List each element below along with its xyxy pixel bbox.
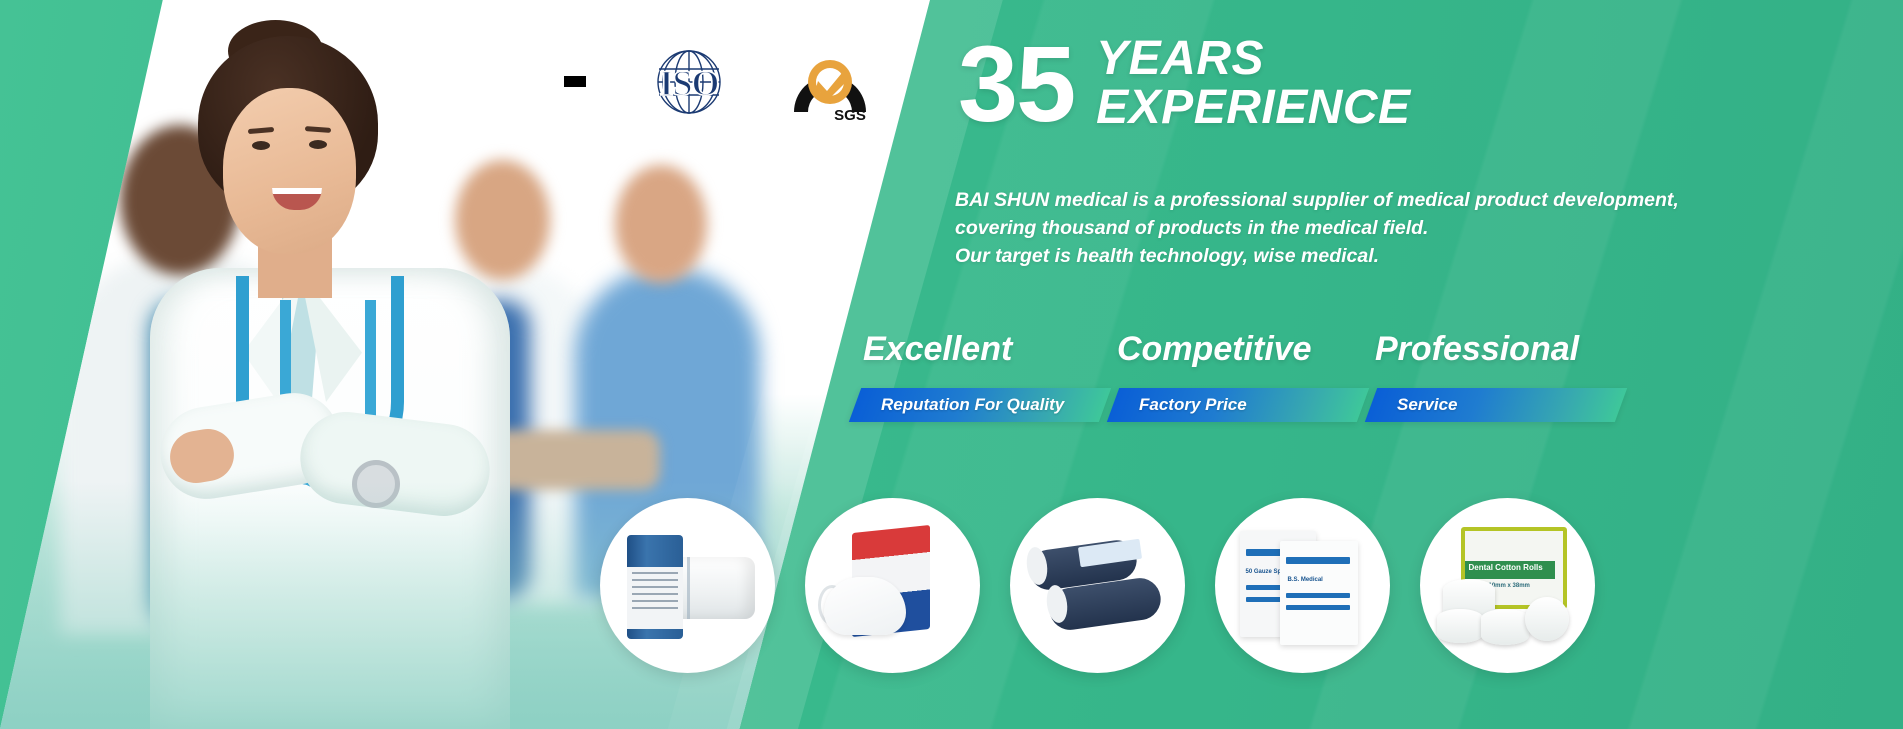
feature-titles: Excellent Competitive Professional	[855, 330, 1855, 382]
feature-list: Excellent Competitive Professional Reput…	[855, 330, 1855, 430]
description-line-1: BAI SHUN medical is a professional suppl…	[955, 186, 1785, 214]
dental-roll-3	[1481, 609, 1529, 645]
gauze-roll-label	[627, 567, 683, 629]
dental-roll-2	[1437, 609, 1483, 643]
description-line-3: Our target is health technology, wise me…	[955, 242, 1785, 270]
company-description: BAI SHUN medical is a professional suppl…	[955, 186, 1785, 270]
kn95-mask-body	[824, 577, 906, 635]
ce-icon	[498, 48, 590, 116]
feature-caption-factory-price: Factory Price	[1113, 395, 1247, 415]
years-number: 35	[958, 34, 1074, 133]
feature-caption-service: Service	[1371, 395, 1458, 415]
feature-bar-factory-price[interactable]: Factory Price	[1107, 388, 1369, 422]
description-line-2: covering thousand of products in the med…	[955, 214, 1785, 242]
background-doctor-3-head	[615, 165, 707, 283]
promo-banner: Smiling female doctor in white coat with…	[0, 0, 1903, 729]
doctor-eye-left	[252, 141, 270, 150]
headline: 35 YEARS EXPERIENCE	[958, 34, 1411, 133]
svg-text:ISO: ISO	[659, 63, 718, 103]
background-doctor-2-head	[455, 160, 550, 280]
feature-caption-reputation: Reputation For Quality	[855, 395, 1064, 415]
feature-bar-service[interactable]: Service	[1365, 388, 1627, 422]
doctor-eye-right	[309, 140, 327, 149]
headline-line-2: EXPERIENCE	[1096, 84, 1410, 133]
sgs-icon: SGS	[788, 42, 872, 122]
product-showcase: Gauze roll with blue canister packaging …	[600, 498, 1595, 673]
feature-title-competitive: Competitive	[1117, 330, 1312, 369]
headline-line-1: YEARS	[1096, 35, 1410, 84]
feature-title-professional: Professional	[1375, 330, 1579, 369]
iso-icon: ISO	[646, 43, 732, 121]
product-kn95-mask[interactable]: KN95 face mask with retail box	[805, 498, 980, 673]
svg-text:SGS: SGS	[834, 107, 866, 122]
product-dental-cotton-rolls[interactable]: Dental Cotton Rolls 10mm x 38mm Dental C…	[1420, 498, 1595, 673]
product-gauze-roll[interactable]: Gauze roll with blue canister packaging	[600, 498, 775, 673]
feature-bars: Reputation For Quality Factory Price Ser…	[855, 388, 1855, 430]
doctor-face	[223, 88, 356, 254]
product-navy-cotton-rolls[interactable]: Navy blue absorbent cotton rolls	[1010, 498, 1185, 673]
headline-words: YEARS EXPERIENCE	[1096, 35, 1410, 133]
gauze-sponge-pack-front: B.S. Medical	[1280, 541, 1358, 645]
gauze-sponge-pack-front-text: B.S. Medical	[1288, 577, 1323, 583]
dental-box-title: Dental Cotton Rolls	[1469, 563, 1543, 572]
feature-bar-reputation[interactable]: Reputation For Quality	[849, 388, 1111, 422]
dental-box-size: 10mm x 38mm	[1489, 583, 1530, 589]
product-gauze-sponge[interactable]: 50 Gauze Sponge B.S. Medical 50 Gauze Sp…	[1215, 498, 1390, 673]
feature-title-excellent: Excellent	[863, 330, 1012, 369]
certification-logos: CE ISO ISO SGS SGS	[498, 42, 872, 122]
dental-roll-4	[1525, 597, 1569, 641]
